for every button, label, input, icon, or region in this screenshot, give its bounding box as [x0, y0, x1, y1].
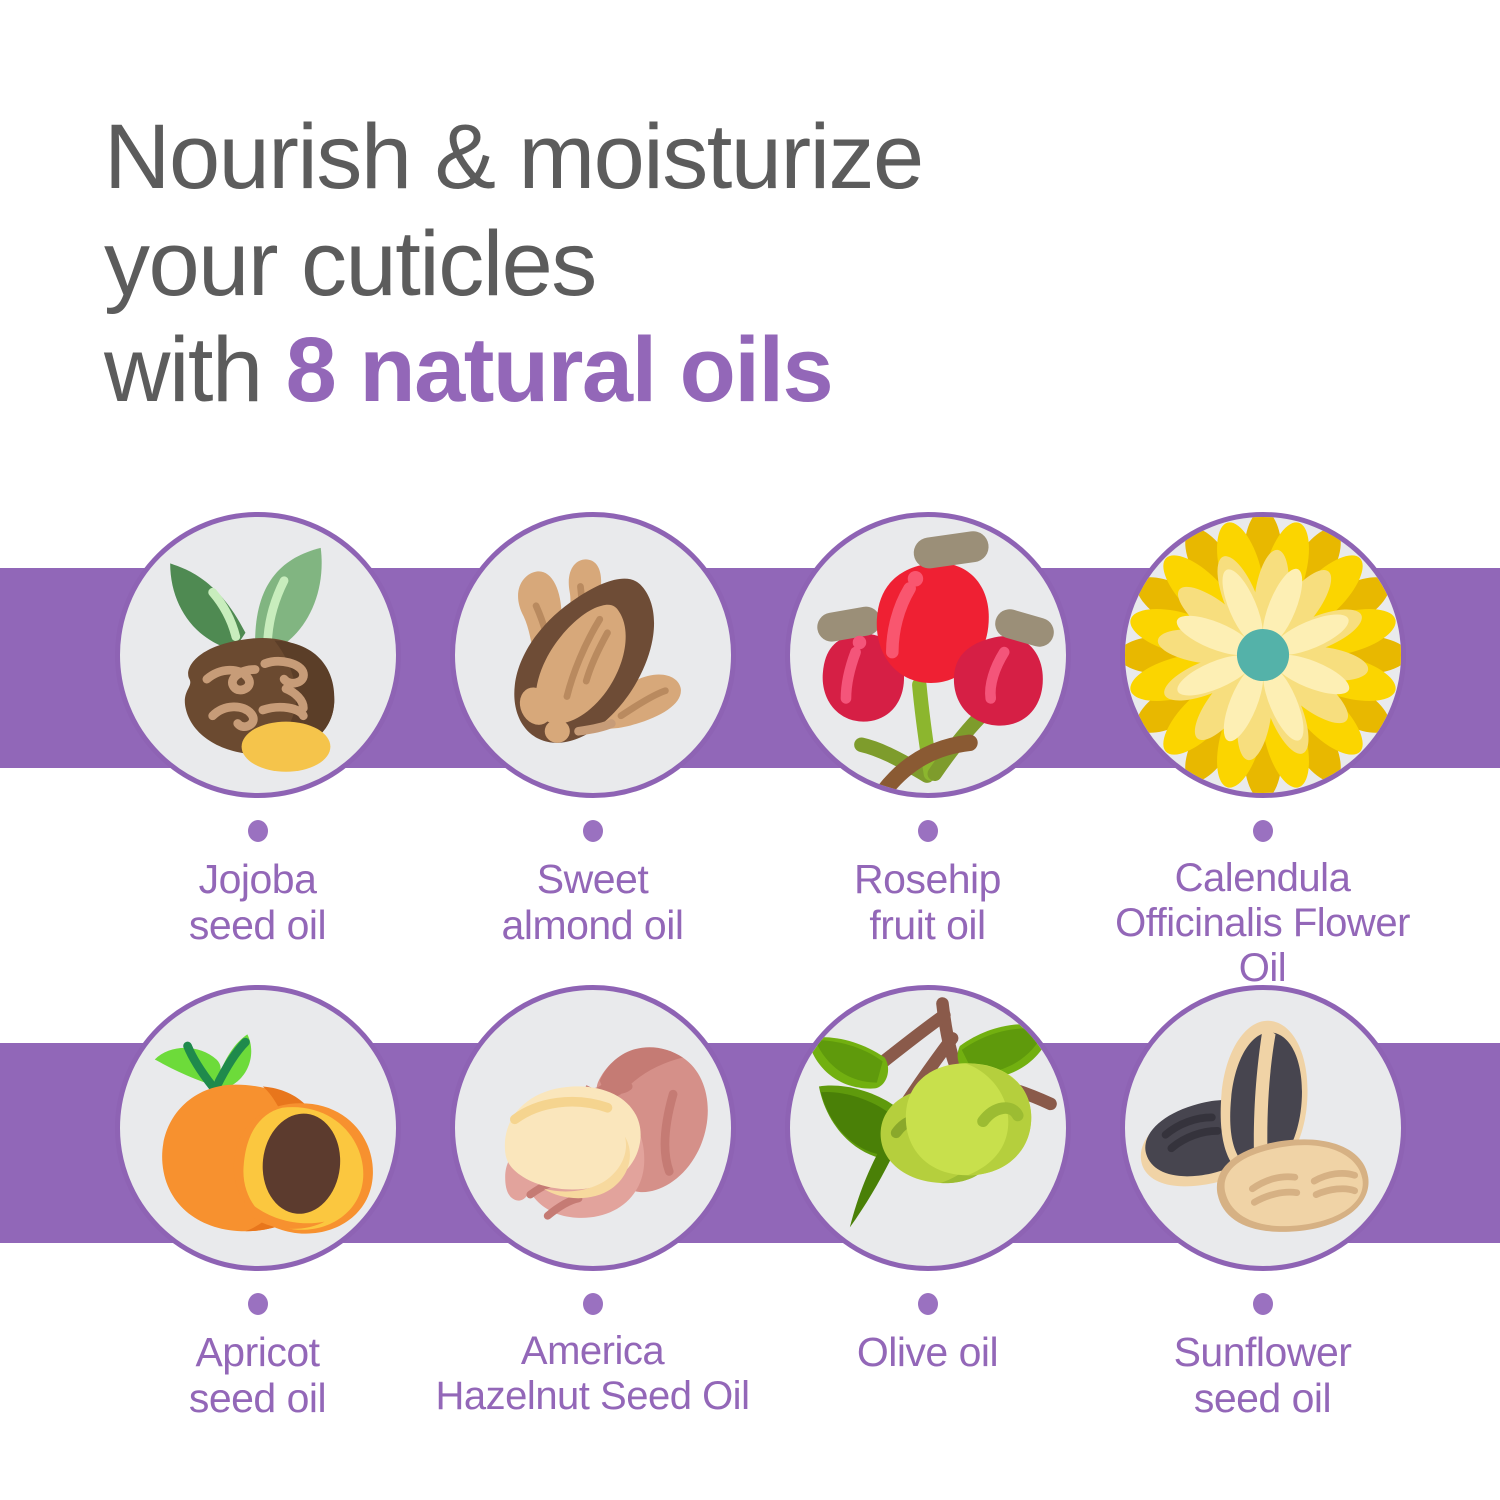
sunflower-seed-icon — [1120, 985, 1406, 1271]
oil-item-almond[interactable]: Sweet almond oil — [425, 512, 760, 949]
oil-item-apricot[interactable]: Apricot seed oil — [90, 985, 425, 1422]
connector-dot — [248, 820, 268, 842]
connector-dot — [918, 820, 938, 842]
oil-label-almond: Sweet almond oil — [425, 856, 760, 949]
connector-dot — [583, 1293, 603, 1315]
oil-item-calendula[interactable]: Calendula Officinalis Flower Oil — [1095, 512, 1430, 992]
oil-label-olive: Olive oil — [760, 1329, 1095, 1375]
connector-dot — [583, 820, 603, 842]
calendula-flower-icon — [1120, 512, 1406, 798]
connector-dot — [1253, 1293, 1273, 1315]
connector-dot — [918, 1293, 938, 1315]
oils-grid: Jojoba seed oil — [0, 0, 1500, 1500]
oil-item-sunflower[interactable]: Sunflower seed oil — [1095, 985, 1430, 1422]
olive-branch-icon — [785, 985, 1071, 1271]
jojoba-seed-icon — [115, 512, 401, 798]
oil-item-hazelnut[interactable]: America Hazelnut Seed Oil — [425, 985, 760, 1419]
oil-label-jojoba: Jojoba seed oil — [90, 856, 425, 949]
connector-dot — [1253, 820, 1273, 842]
oil-label-hazelnut: America Hazelnut Seed Oil — [425, 1329, 760, 1419]
apricot-fruit-icon — [115, 985, 401, 1271]
oil-label-calendula: Calendula Officinalis Flower Oil — [1095, 856, 1430, 992]
oil-item-olive[interactable]: Olive oil — [760, 985, 1095, 1375]
oil-label-sunflower: Sunflower seed oil — [1095, 1329, 1430, 1422]
oil-item-rosehip[interactable]: Rosehip fruit oil — [760, 512, 1095, 949]
connector-dot — [248, 1293, 268, 1315]
sweet-almond-icon — [450, 512, 736, 798]
oil-label-apricot: Apricot seed oil — [90, 1329, 425, 1422]
oil-item-jojoba[interactable]: Jojoba seed oil — [90, 512, 425, 949]
oil-label-rosehip: Rosehip fruit oil — [760, 856, 1095, 949]
hazelnut-icon — [450, 985, 736, 1271]
rosehip-berries-icon — [785, 512, 1071, 798]
